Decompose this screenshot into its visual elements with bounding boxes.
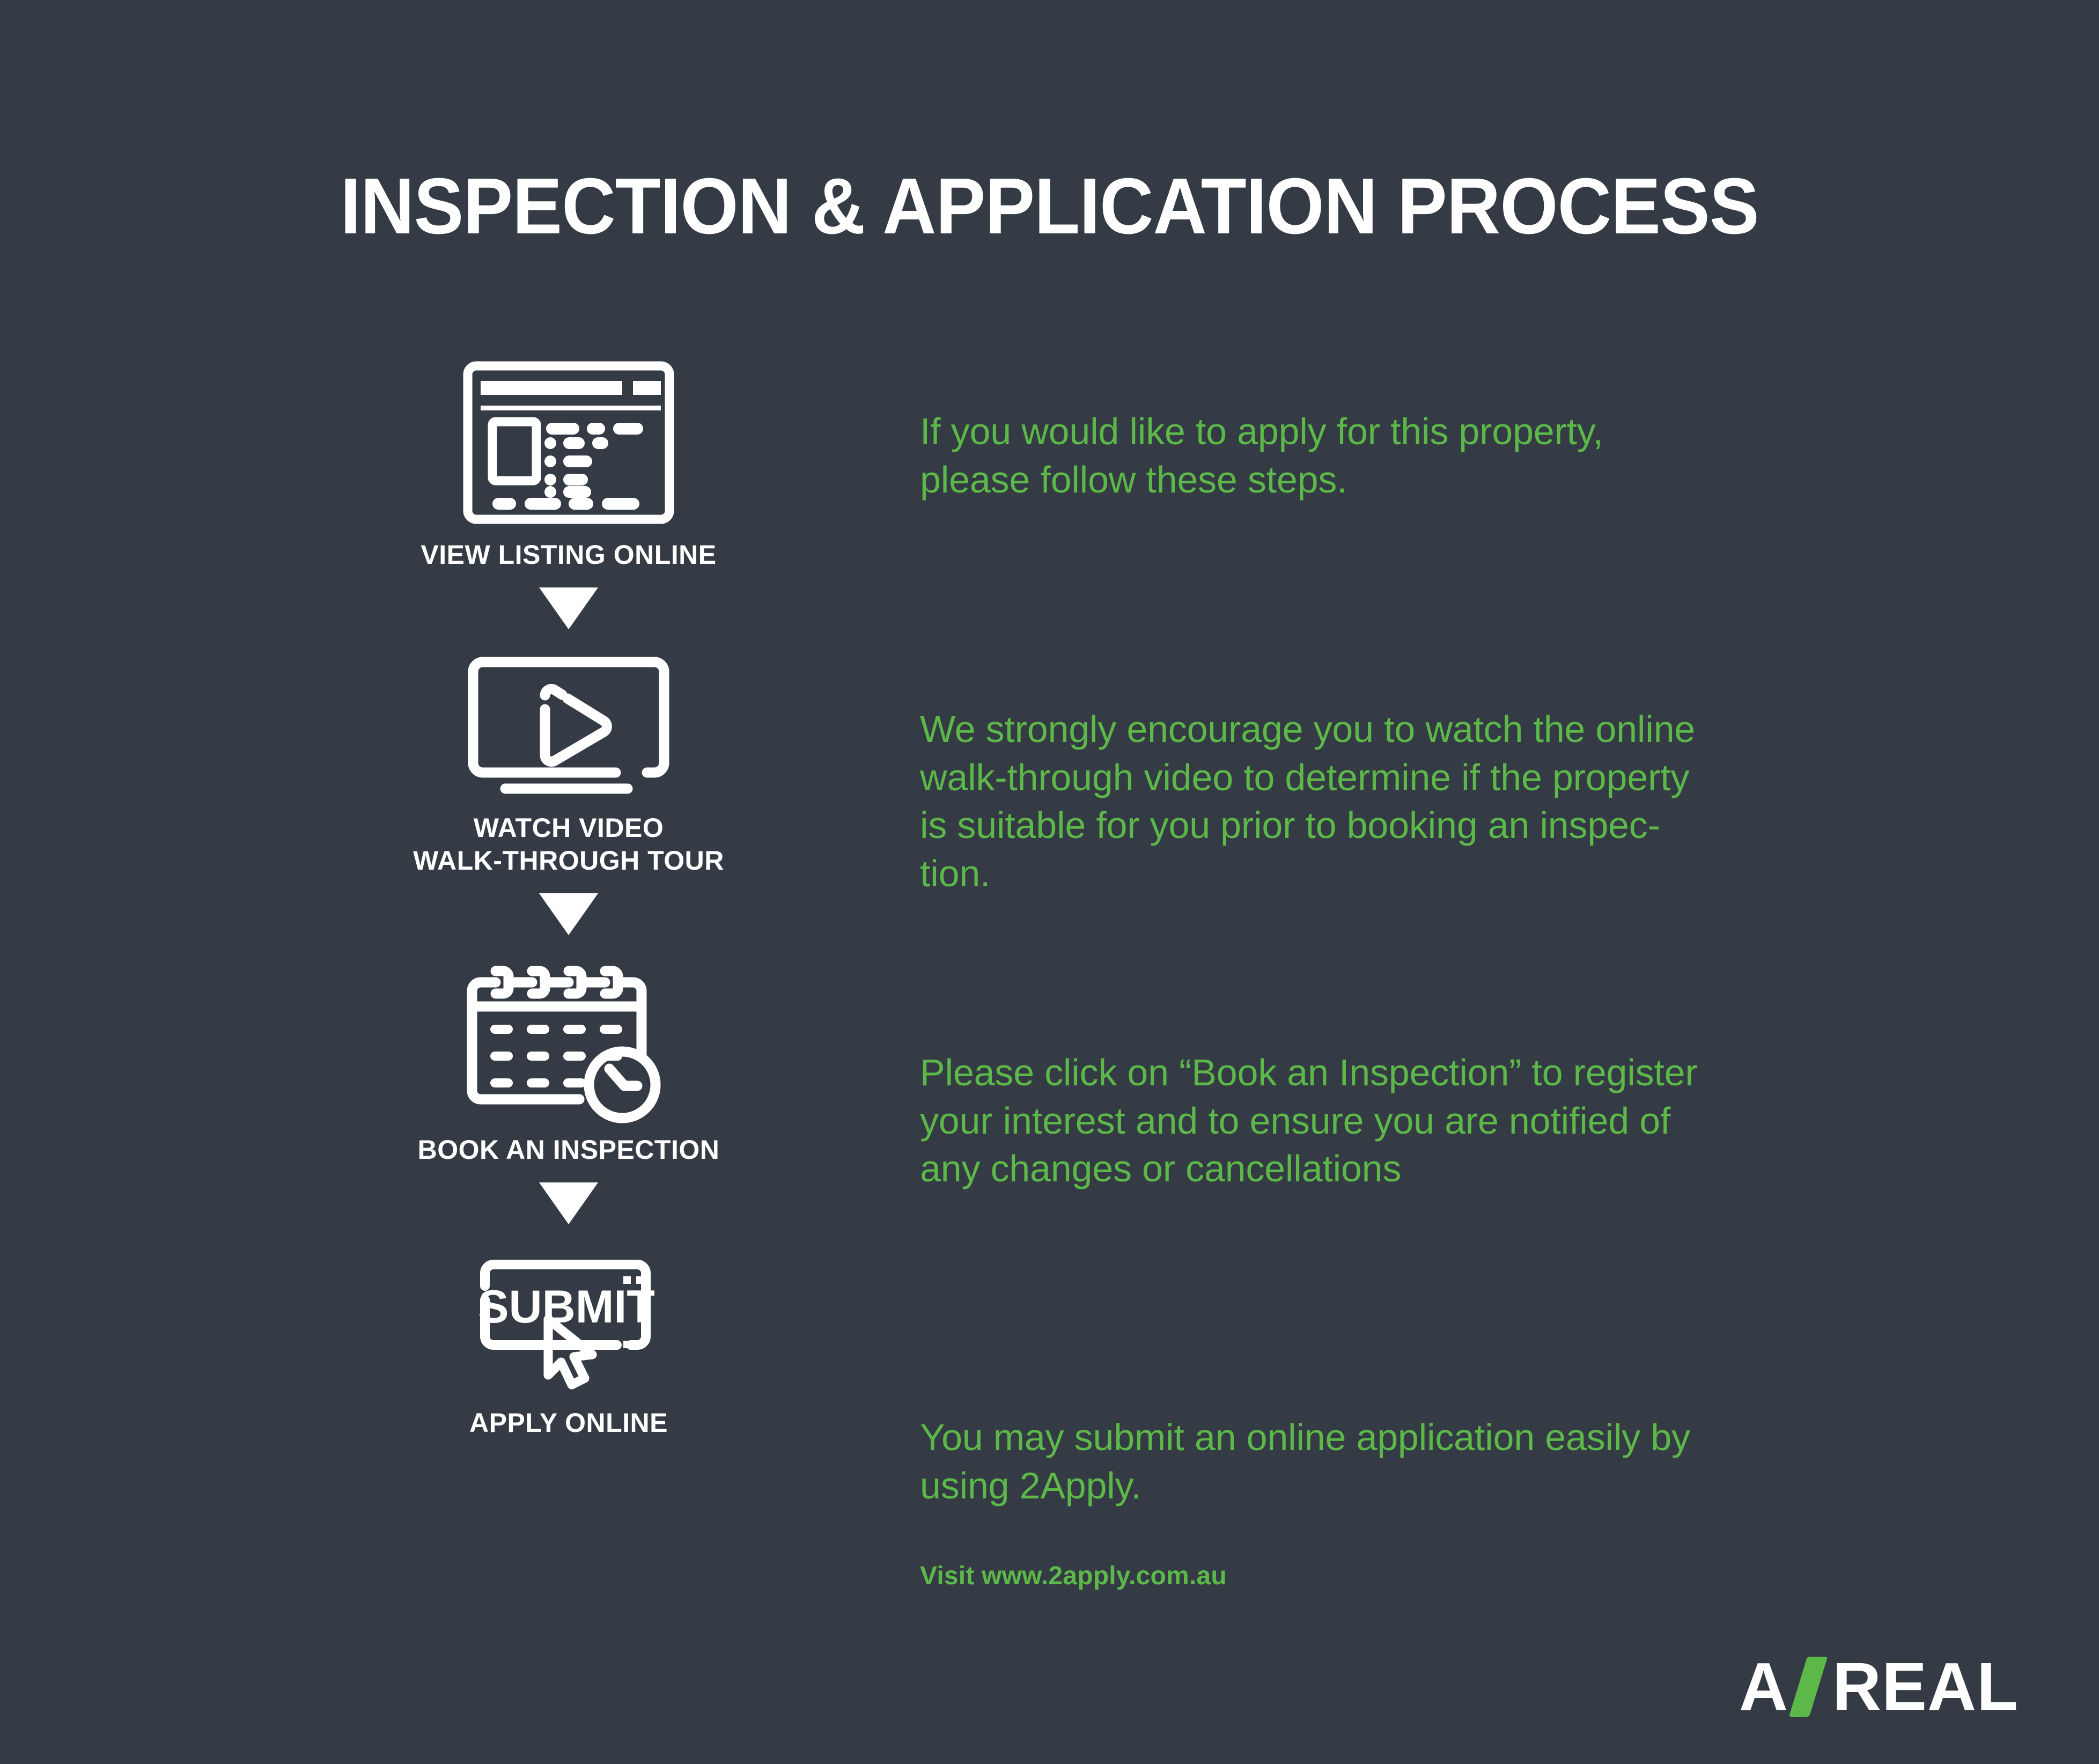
step-label: APPLY ONLINE [469,1407,668,1439]
step-label: BOOK AN INSPECTION [418,1134,720,1166]
logo-word-real: REAL [1832,1648,2019,1725]
browser-listing-icon [456,354,681,531]
page-title: INSPECTION & APPLICATION PROCESS [63,161,2036,252]
submit-button-cursor-icon: SUBMIT [456,1238,681,1399]
video-play-monitor-icon [456,643,681,804]
calendar-clock-icon [456,949,681,1126]
step-watch-video[interactable]: WATCH VIDEO WALK-THROUGH TOUR [397,643,740,877]
step-book-inspection[interactable]: BOOK AN INSPECTION [397,949,740,1166]
process-body: VIEW LISTING ONLINE WATCH VIDEO WAL [0,354,2099,1642]
copy-paragraph-2: We strongly encourage you to watch the o… [920,705,1902,898]
copy-paragraph-3: Please click on “Book an Inspection” to … [920,1049,1902,1193]
logo-slash-icon [1789,1657,1828,1717]
arrow-down-icon [397,571,740,643]
arrow-down-icon [397,1166,740,1238]
step-label: VIEW LISTING ONLINE [421,539,716,571]
copy-paragraph-1: If you would like to apply for this prop… [920,408,1902,504]
visit-url-text[interactable]: Visit www.2apply.com.au [920,1561,1227,1591]
brand-logo[interactable]: A REAL [1739,1648,2019,1725]
infographic-poster: INSPECTION & APPLICATION PROCESS [0,0,2099,1764]
submit-icon-text: SUBMIT [478,1281,655,1333]
step-view-listing[interactable]: VIEW LISTING ONLINE [397,354,740,571]
logo-letter-a: A [1739,1648,1788,1725]
arrow-down-icon [397,877,740,949]
step-apply-online[interactable]: SUBMIT APPLY ONLINE [397,1238,740,1439]
copy-paragraph-4: You may submit an online application eas… [920,1414,1902,1510]
steps-rail: VIEW LISTING ONLINE WATCH VIDEO WAL [397,354,740,1439]
step-label: WATCH VIDEO WALK-THROUGH TOUR [413,812,724,877]
